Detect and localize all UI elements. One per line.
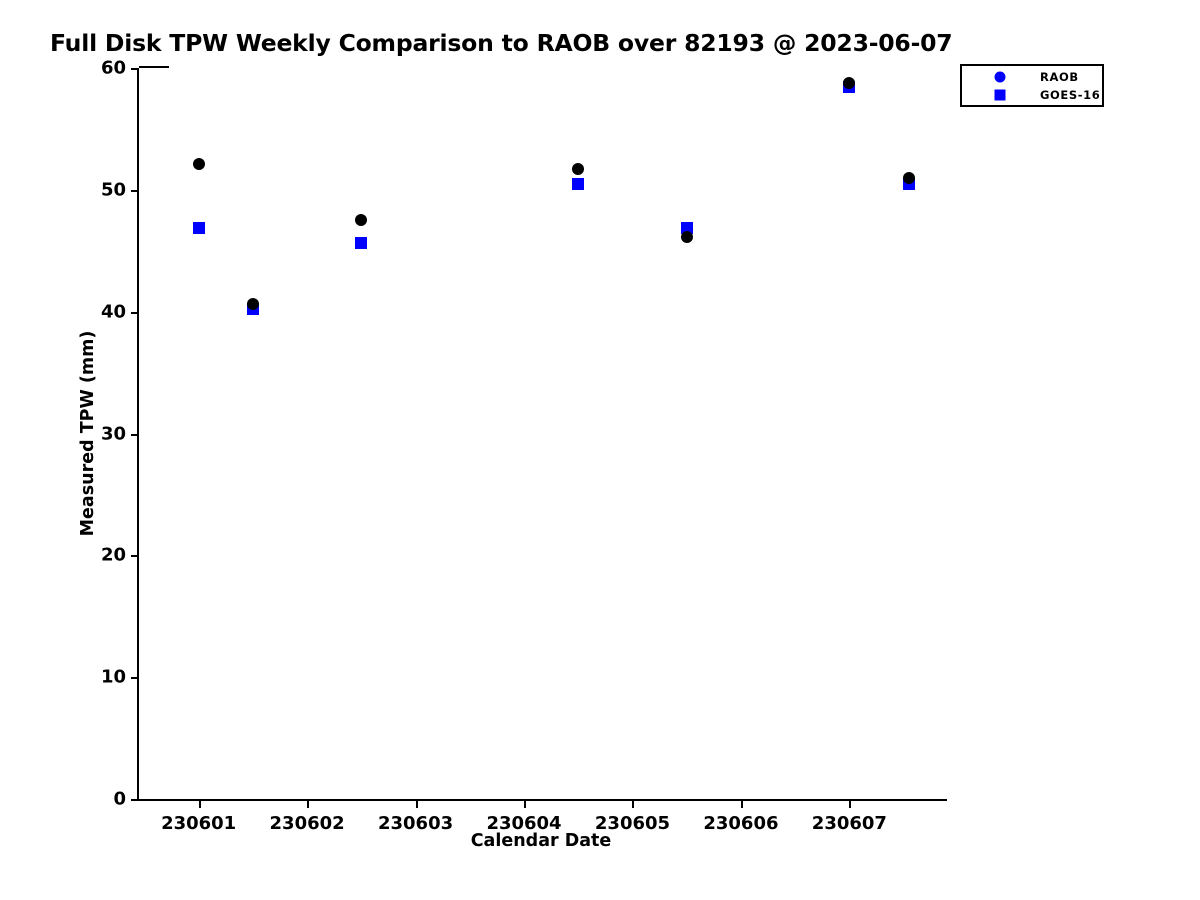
data-point-goes-16 [193,222,205,234]
y-axis-tick-label: 60 [101,58,126,79]
data-point-raob [247,298,259,310]
x-axis-tick [307,799,309,808]
y-axis-tick-label: 20 [101,545,126,566]
legend-label: GOES-16 [1040,88,1100,102]
y-axis-tick [131,312,139,314]
x-axis-tick [849,799,851,808]
y-axis-tick [131,68,139,70]
plot-inner [139,68,947,799]
bottom-spine [139,799,947,801]
data-point-raob [355,214,367,226]
y-axis-tick-label: 0 [113,789,126,810]
data-point-raob [843,77,855,89]
y-axis-tick-label: 10 [101,667,126,688]
legend-entry-goes16: GOES-16 [962,86,1102,104]
y-axis-tick [131,677,139,679]
y-axis-tick [131,434,139,436]
x-axis-tick [741,799,743,808]
data-point-goes-16 [355,237,367,249]
y-axis-tick [131,555,139,557]
y-axis-tick-label: 50 [101,179,126,200]
x-axis-tick [416,799,418,808]
data-point-raob [681,231,693,243]
y-axis-tick [131,799,139,801]
x-axis-tick [524,799,526,808]
legend-square-marker-icon [995,90,1006,101]
plot-area: 0102030405060230601230602230603230604230… [137,68,947,801]
x-axis-label: Calendar Date [137,831,945,851]
legend-entry-raob: RAOB [962,68,1102,86]
data-point-raob [572,163,584,175]
chart-figure: Full Disk TPW Weekly Comparison to RAOB … [0,0,1200,900]
x-axis-tick [199,799,201,808]
legend-label: RAOB [1040,70,1079,84]
data-point-goes-16 [572,178,584,190]
data-point-raob [193,158,205,170]
chart-title: Full Disk TPW Weekly Comparison to RAOB … [50,29,952,57]
x-axis-tick [632,799,634,808]
data-point-raob [903,172,915,184]
y-axis-tick-label: 40 [101,301,126,322]
y-axis-label: Measured TPW (mm) [78,68,98,799]
legend-circle-marker-icon [995,72,1006,83]
y-axis-tick [131,190,139,192]
chart-legend: RAOB GOES-16 [960,64,1104,107]
y-axis-tick-label: 30 [101,423,126,444]
